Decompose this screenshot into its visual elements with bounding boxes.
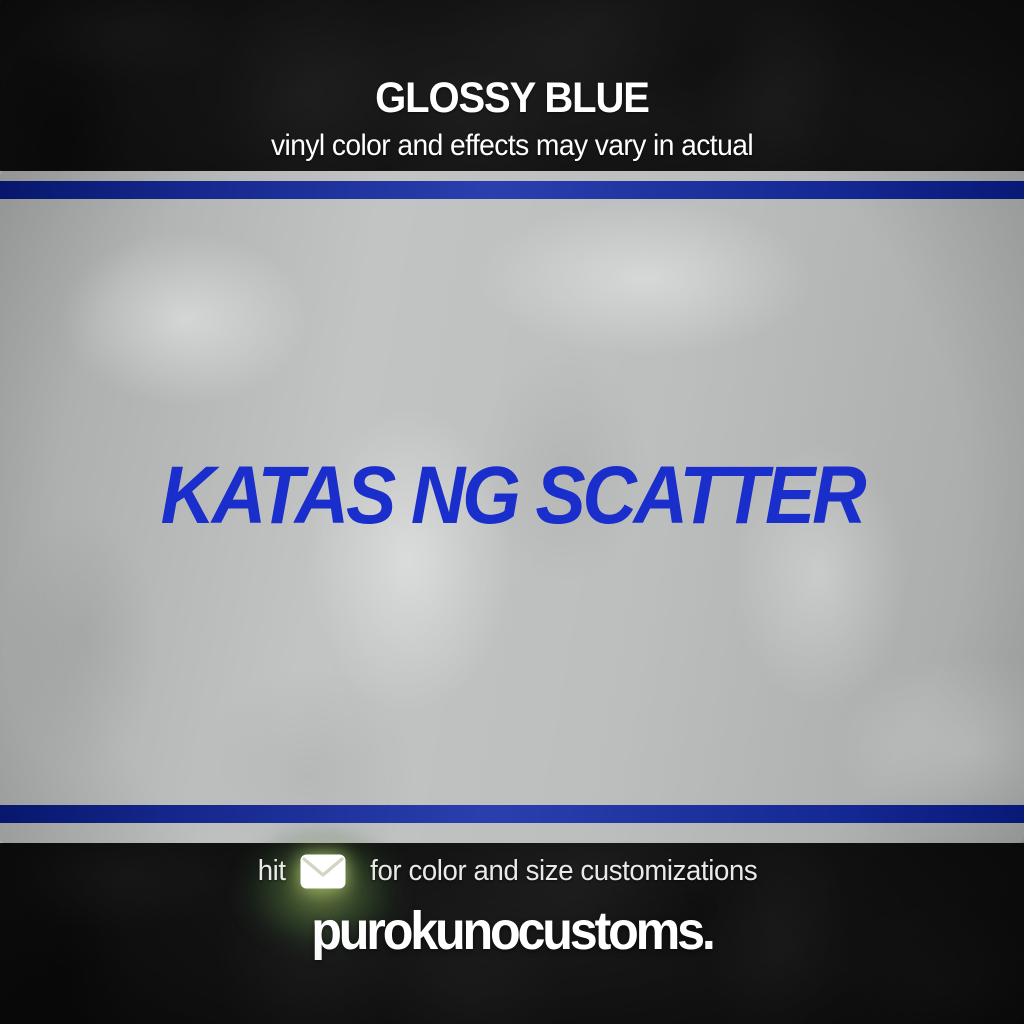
page-title: GLOSSY BLUE (36, 76, 988, 120)
header-subtitle: vinyl color and effects may vary in actu… (31, 129, 994, 163)
cta-prefix-label: hit (257, 855, 285, 888)
accent-bar-bottom (0, 805, 1024, 823)
cta-suffix-label: for color and size customizations (370, 855, 757, 888)
poster-header: GLOSSY BLUE vinyl color and effects may … (0, 0, 1024, 171)
decal-text: KATAS NG SCATTER (41, 452, 983, 540)
brand-wordmark: purokunocustoms. (36, 902, 988, 960)
accent-bar-top (0, 181, 1024, 199)
product-poster: GLOSSY BLUE vinyl color and effects may … (0, 0, 1024, 1024)
contact-cta: hit for color and size customizations (0, 854, 1024, 889)
envelope-icon[interactable] (300, 854, 346, 889)
